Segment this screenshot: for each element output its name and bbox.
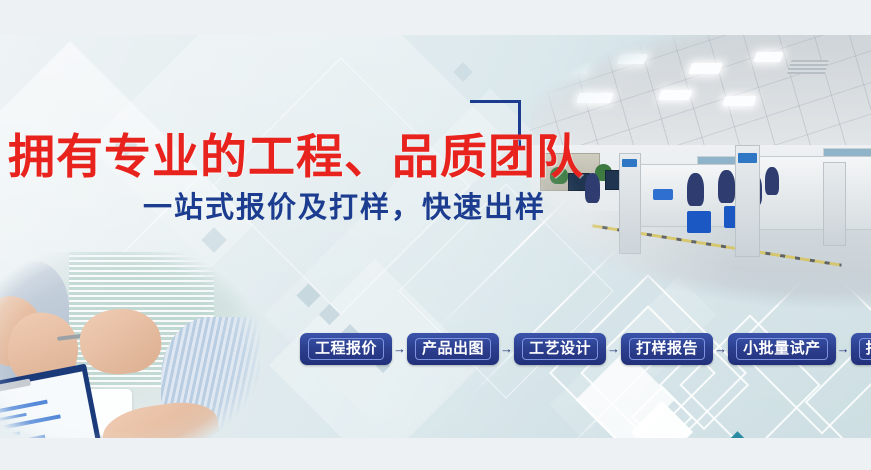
decor-square [453, 62, 473, 82]
process-flow: 工程报价→产品出图→工艺设计→打样报告→小批量试产→批量量产 [300, 333, 871, 365]
process-step-label: 小批量试产 [736, 338, 828, 360]
process-arrow-icon: → [499, 342, 514, 355]
top-margin-strip [0, 0, 871, 35]
process-step-label: 工程报价 [308, 338, 384, 360]
process-step-badge[interactable]: 小批量试产 [728, 333, 836, 365]
process-arrow-icon: → [713, 342, 728, 355]
process-arrow-icon: → [392, 342, 407, 355]
bottom-margin-strip [0, 438, 871, 470]
banner-subheadline: 一站式报价及打样，快速出样 [143, 184, 546, 226]
process-step-badge[interactable]: 工程报价 [300, 333, 392, 365]
process-step-badge[interactable]: 工艺设计 [514, 333, 606, 365]
marketing-banner: 拥有专业的工程、品质团队 一站式报价及打样，快速出样 工程报价→产品出图→工艺设… [0, 0, 871, 470]
process-step-label: 产品出图 [415, 338, 491, 360]
banner-headline: 拥有专业的工程、品质团队 [8, 118, 584, 187]
process-step-label: 打样报告 [629, 338, 705, 360]
process-step-label: 工艺设计 [522, 338, 598, 360]
process-arrow-icon: → [606, 342, 621, 355]
process-step-badge[interactable]: 批量量产 [851, 333, 871, 365]
process-step-badge[interactable]: 产品出图 [407, 333, 499, 365]
process-step-badge[interactable]: 打样报告 [621, 333, 713, 365]
process-arrow-icon: → [836, 342, 851, 355]
process-step-label: 批量量产 [859, 338, 871, 360]
